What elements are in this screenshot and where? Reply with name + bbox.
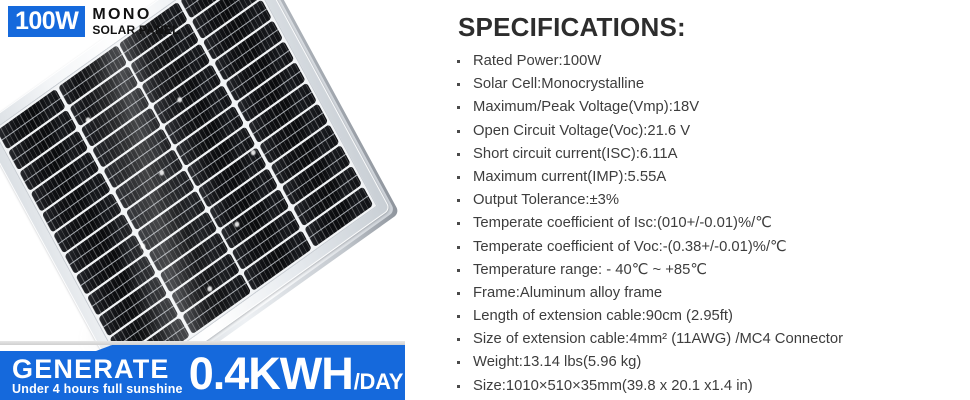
bullet-icon [457, 106, 460, 109]
spec-item: Temperate coefficient of Isc:(010+/-0.01… [455, 212, 970, 235]
banner-body: GENERATE Under 4 hours full sunshine 0.4… [0, 345, 405, 400]
badge-text-group: MONO SOLAR PANEL [92, 6, 179, 37]
bullet-icon [457, 130, 460, 133]
bullet-icon [457, 176, 460, 179]
product-badge: 100W MONO SOLAR PANEL [8, 6, 180, 37]
spec-item: Length of extension cable:90cm (2.95ft) [455, 305, 970, 328]
bullet-icon [457, 153, 460, 156]
page-title: SPECIFICATIONS: [458, 12, 686, 43]
bullet-icon [457, 60, 460, 63]
badge-power-label: 100W [8, 6, 85, 37]
product-image-pane: 100W MONO SOLAR PANEL G [0, 0, 440, 400]
spec-item-label: Frame:Aluminum alloy frame [473, 285, 662, 301]
panel-aluminum-frame [0, 0, 391, 398]
specifications-pane: SPECIFICATIONS: Rated Power:100WSolar Ce… [455, 0, 970, 400]
spec-item-label: Size of extension cable:4mm² (11AWG) /MC… [473, 331, 843, 347]
bullet-icon [457, 199, 460, 202]
spec-item: Weight:13.14 lbs(5.96 kg) [455, 351, 970, 374]
panel-cell-grid [0, 0, 377, 383]
banner-output-value: 0.4KWH [189, 351, 353, 396]
spec-item-label: Size:1010×510×35mm(39.8 x 20.1 x1.4 in) [473, 378, 753, 394]
specifications-list: Rated Power:100WSolar Cell:Monocrystalli… [455, 50, 970, 398]
spec-item-label: Maximum current(IMP):5.55A [473, 169, 666, 185]
spec-item: Temperate coefficient of Voc:-(0.38+/-0.… [455, 236, 970, 259]
bullet-icon [457, 222, 460, 225]
spec-item-label: Weight:13.14 lbs(5.96 kg) [473, 354, 641, 370]
spec-item-label: Temperate coefficient of Isc:(010+/-0.01… [473, 215, 772, 231]
spec-item: Size of extension cable:4mm² (11AWG) /MC… [455, 328, 970, 351]
spec-item-label: Output Tolerance:±3% [473, 192, 619, 208]
panel-body [0, 0, 391, 398]
spec-item: Frame:Aluminum alloy frame [455, 282, 970, 305]
spec-item-label: Length of extension cable:90cm (2.95ft) [473, 308, 733, 324]
spec-item: Short circuit current(ISC):6.11A [455, 143, 970, 166]
banner-output-unit: /DAY [354, 371, 403, 393]
spec-item-label: Short circuit current(ISC):6.11A [473, 146, 677, 162]
spec-item: Output Tolerance:±3% [455, 189, 970, 212]
bullet-icon [457, 83, 460, 86]
solar-panel-photo [0, 0, 440, 345]
spec-item-label: Rated Power:100W [473, 53, 601, 69]
badge-subtitle-label: SOLAR PANEL [92, 24, 179, 37]
bullet-icon [457, 338, 460, 341]
spec-item-label: Temperature range: - 40℃ ~ +85℃ [473, 262, 707, 278]
spec-item-label: Open Circuit Voltage(Voc):21.6 V [473, 123, 690, 139]
product-spec-page: 100W MONO SOLAR PANEL G [0, 0, 970, 400]
bullet-icon [457, 292, 460, 295]
spec-item: Solar Cell:Monocrystalline [455, 73, 970, 96]
spec-item: Maximum/Peak Voltage(Vmp):18V [455, 96, 970, 119]
spec-item-label: Maximum/Peak Voltage(Vmp):18V [473, 99, 699, 115]
bullet-icon [457, 246, 460, 249]
banner-headline: GENERATE [12, 356, 183, 383]
banner-subtitle: Under 4 hours full sunshine [12, 382, 183, 396]
bullet-icon [457, 315, 460, 318]
banner-top-strip [0, 341, 405, 345]
bullet-icon [457, 361, 460, 364]
spec-item: Maximum current(IMP):5.55A [455, 166, 970, 189]
energy-output-banner: GENERATE Under 4 hours full sunshine 0.4… [0, 341, 405, 400]
banner-output-group: 0.4KWH /DAY [189, 351, 403, 396]
spec-item: Size:1010×510×35mm(39.8 x 20.1 x1.4 in) [455, 375, 970, 398]
banner-generate-group: GENERATE Under 4 hours full sunshine [12, 356, 183, 396]
bullet-icon [457, 269, 460, 272]
spec-item: Temperature range: - 40℃ ~ +85℃ [455, 259, 970, 282]
spec-item-label: Temperate coefficient of Voc:-(0.38+/-0.… [473, 239, 787, 255]
spec-item-label: Solar Cell:Monocrystalline [473, 76, 644, 92]
bullet-icon [457, 385, 460, 388]
spec-item: Rated Power:100W [455, 50, 970, 73]
badge-type-label: MONO [92, 7, 179, 23]
spec-item: Open Circuit Voltage(Voc):21.6 V [455, 120, 970, 143]
